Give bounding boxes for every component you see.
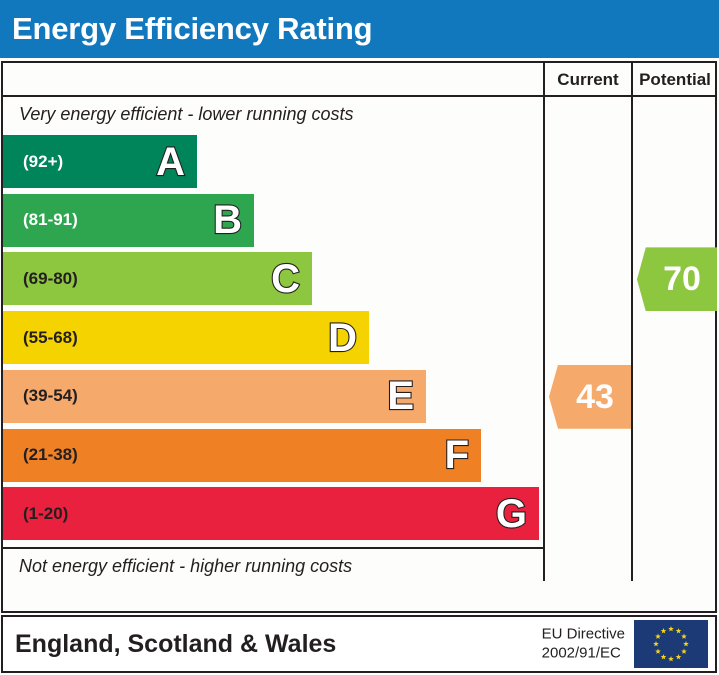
band-letter-e: E: [387, 376, 414, 416]
band-row-e: (39-54)E: [3, 370, 426, 423]
band-letter-d: D: [328, 318, 357, 358]
band-row-f: (21-38)F: [3, 429, 481, 482]
band-letter-c: C: [271, 259, 300, 299]
band-letter-b: B: [213, 200, 242, 240]
band-row-c: (69-80)C: [3, 252, 312, 305]
band-letter-f: F: [445, 435, 469, 475]
column-header-current: Current: [543, 63, 631, 97]
band-row-g: (1-20)G: [3, 487, 539, 540]
band-row-d: (55-68)D: [3, 311, 369, 364]
band-range-b: (81-91): [3, 210, 78, 230]
rating-arrow-potential: 70: [637, 247, 717, 311]
rating-value-potential: 70: [653, 262, 701, 296]
band-range-g: (1-20): [3, 504, 68, 524]
band-range-c: (69-80): [3, 269, 78, 289]
eu-flag-icon: [634, 620, 708, 668]
column-header-row: Current Potential: [3, 63, 715, 97]
band-range-d: (55-68): [3, 328, 78, 348]
band-row-b: (81-91)B: [3, 194, 254, 247]
band-list: (92+)A(81-91)B(69-80)C(55-68)D(39-54)E(2…: [3, 135, 543, 547]
energy-efficiency-rating-chart: Energy Efficiency Rating Current Potenti…: [0, 0, 719, 675]
page-title: Energy Efficiency Rating: [0, 11, 372, 47]
directive-line-2: 2002/91/EC: [542, 644, 625, 663]
band-row-a: (92+)A: [3, 135, 197, 188]
column-divider-current: [543, 97, 545, 581]
footer-directive: EU Directive 2002/91/EC: [542, 625, 625, 663]
rating-table: Current Potential Very energy efficient …: [1, 61, 717, 613]
column-divider-potential: [631, 97, 633, 581]
caption-very-efficient: Very energy efficient - lower running co…: [3, 97, 543, 131]
rating-arrow-current: 43: [549, 365, 631, 429]
band-letter-a: A: [156, 142, 185, 182]
band-letter-g: G: [496, 494, 527, 534]
band-range-e: (39-54): [3, 386, 78, 406]
band-range-a: (92+): [3, 152, 63, 172]
column-header-potential: Potential: [631, 63, 717, 97]
band-range-f: (21-38): [3, 445, 78, 465]
chart-header-banner: Energy Efficiency Rating: [0, 0, 719, 58]
chart-footer: England, Scotland & Wales EU Directive 2…: [1, 615, 717, 673]
rating-value-current: 43: [566, 380, 614, 414]
caption-not-efficient: Not energy efficient - higher running co…: [3, 547, 543, 583]
footer-region-label: England, Scotland & Wales: [3, 630, 336, 659]
directive-line-1: EU Directive: [542, 625, 625, 644]
